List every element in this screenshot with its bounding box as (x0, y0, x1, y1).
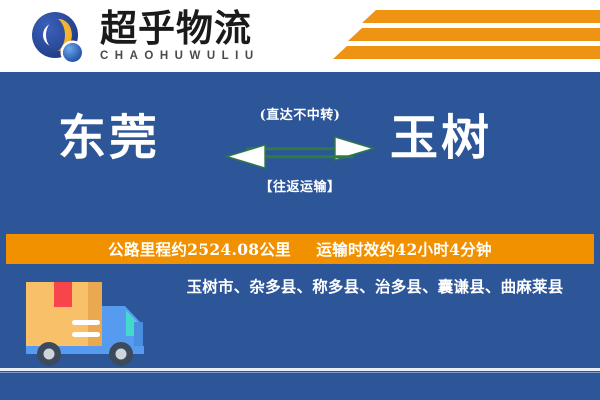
decorative-stripes (270, 8, 600, 66)
distance-text: 公路里程约2524.08公里 (108, 240, 291, 259)
route-note-roundtrip: 【往返运输】 (218, 178, 382, 198)
destination-city: 玉树 (390, 108, 492, 168)
info-bar-text: 公路里程约2524.08公里 运输时效约42小时4分钟 (108, 238, 492, 260)
ground-line-shadow (0, 372, 600, 373)
route-row: 东莞 (直达不中转) 【往返运输】 玉树 (0, 100, 600, 240)
logo-dot-icon (63, 43, 82, 62)
stripe-1 (362, 10, 600, 23)
duration-text: 运输时效约42小时4分钟 (316, 240, 491, 259)
route-note-direct: (直达不中转) (218, 106, 382, 126)
stripe-3 (333, 46, 600, 59)
main-panel: 东莞 (直达不中转) 【往返运输】 玉树 公路里程约2524.08公里 (0, 72, 600, 400)
banner-header: 超乎物流 CHAOHUWULIU (0, 0, 600, 72)
coverage-areas-text: 玉树市、杂多县、称多县、治多县、囊谦县、曲麻莱县 (160, 276, 590, 298)
circle-crescent-logo-icon (32, 12, 84, 64)
stripe-2 (348, 28, 600, 41)
delivery-truck-icon (22, 276, 152, 370)
ground-line (0, 368, 600, 371)
route-middle: (直达不中转) 【往返运输】 (218, 100, 382, 230)
bidirectional-arrows-icon (225, 134, 375, 172)
info-bar: 公路里程约2524.08公里 运输时效约42小时4分钟 (6, 234, 594, 264)
origin-city: 东莞 (58, 108, 160, 168)
logistics-banner: 超乎物流 CHAOHUWULIU 东莞 (直达不中转) (0, 0, 600, 400)
